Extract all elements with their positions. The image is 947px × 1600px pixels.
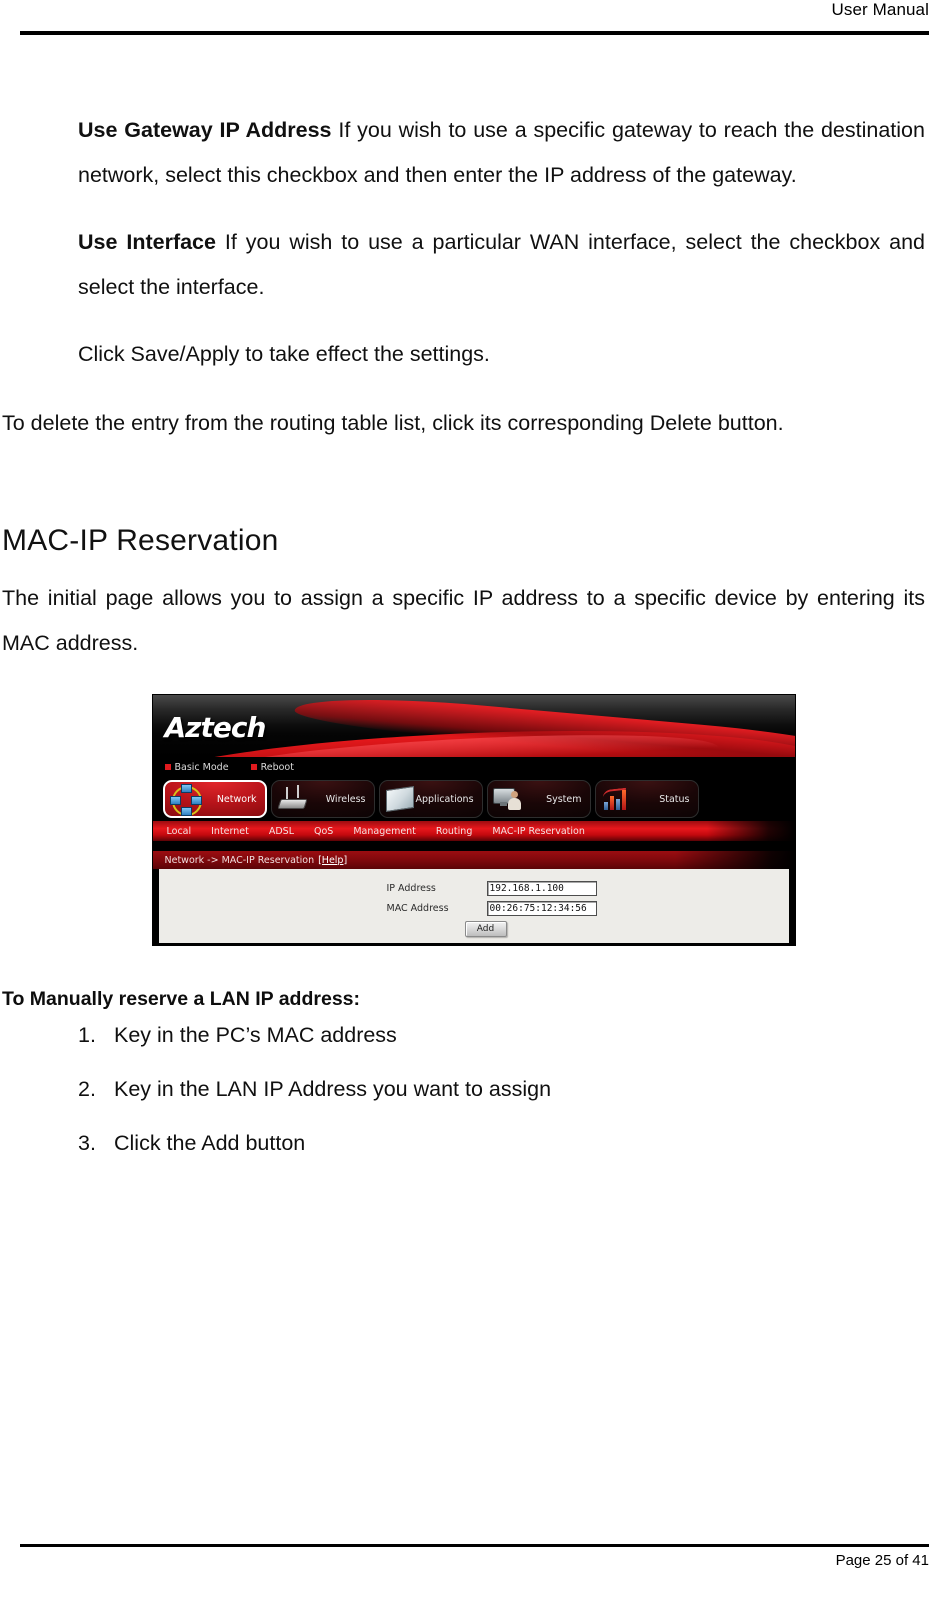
status-bar-chart-icon — [600, 784, 632, 814]
tab-applications-label: Applications — [416, 794, 474, 805]
tab-wireless-label: Wireless — [326, 794, 366, 805]
mac-address-input[interactable]: 00:26:75:12:34:56 — [487, 901, 597, 916]
applications-card-icon — [384, 784, 416, 814]
list-item: Click the Add button — [78, 1129, 947, 1157]
tab-status[interactable]: Status — [595, 780, 699, 818]
ip-address-input[interactable]: 192.168.1.100 — [487, 881, 597, 896]
breadcrumb-path: Network -> MAC-IP Reservation — [165, 855, 315, 866]
banner-wave-highlight — [204, 726, 718, 757]
utility-link-reboot[interactable]: Reboot — [251, 762, 294, 773]
section-heading-mac-ip-reservation: MAC-IP Reservation — [2, 524, 947, 558]
system-monitor-person-icon — [492, 784, 524, 814]
document-header: User Manual — [20, 0, 929, 38]
page-number: Page 25 of 41 — [836, 1552, 929, 1569]
tab-status-label: Status — [659, 794, 689, 805]
utility-link-basic-mode[interactable]: Basic Mode — [165, 762, 229, 773]
utility-link-basic-mode-label: Basic Mode — [175, 762, 229, 773]
router-web-ui: Aztech Basic Mode Reboot — [152, 694, 796, 946]
paragraph-use-gateway-ip-address: Use Gateway IP Address If you wish to us… — [78, 108, 925, 198]
footer-rule — [20, 1544, 929, 1547]
utility-link-reboot-label: Reboot — [261, 762, 294, 773]
tab-system[interactable]: System — [487, 780, 591, 818]
tab-system-label: System — [546, 794, 581, 805]
mac-ip-reservation-form: IP Address 192.168.1.100 MAC Address 00:… — [153, 869, 795, 946]
paragraph-delete-entry: To delete the entry from the routing tab… — [2, 401, 925, 446]
subnav-item-routing[interactable]: Routing — [426, 826, 482, 837]
main-tab-bar: Network Wireless A — [153, 777, 795, 821]
paragraph-use-interface: Use Interface If you wish to use a parti… — [78, 220, 925, 310]
tab-applications[interactable]: Applications — [379, 780, 483, 818]
mac-address-row: MAC Address 00:26:75:12:34:56 — [387, 901, 597, 916]
subnav-item-mac-ip-reservation[interactable]: MAC-IP Reservation — [482, 826, 595, 837]
aztech-logo: Aztech — [165, 711, 266, 744]
use-gateway-ip-address-term: Use Gateway IP Address — [78, 118, 332, 142]
banner-wave-shape-secondary — [293, 695, 794, 757]
subnav-item-internet[interactable]: Internet — [201, 826, 259, 837]
router-screenshot-figure: Aztech Basic Mode Reboot — [0, 694, 947, 946]
use-interface-term: Use Interface — [78, 230, 216, 254]
ip-address-row: IP Address 192.168.1.100 — [387, 881, 597, 896]
nav-panel-divider — [153, 841, 795, 851]
steps-heading: To Manually reserve a LAN IP address: — [2, 988, 947, 1011]
tab-network-label: Network — [217, 794, 257, 805]
brand-banner: Aztech — [153, 695, 795, 757]
network-computers-icon — [169, 784, 201, 814]
subnav-item-adsl[interactable]: ADSL — [259, 826, 304, 837]
paragraph-save-apply: Click Save/Apply to take effect the sett… — [78, 332, 925, 377]
breadcrumb-bar: Network -> MAC-IP Reservation [Help] — [153, 851, 795, 869]
header-title: User Manual — [832, 0, 929, 20]
help-link[interactable]: [Help] — [318, 855, 347, 866]
list-item: Key in the PC’s MAC address — [78, 1021, 947, 1049]
section-intro-text: The initial page allows you to assign a … — [2, 576, 925, 666]
tab-network[interactable]: Network — [163, 780, 267, 818]
wireless-router-icon — [276, 784, 308, 814]
utility-links-row: Basic Mode Reboot — [153, 757, 795, 777]
list-item: Key in the LAN IP Address you want to as… — [78, 1075, 947, 1103]
add-button[interactable]: Add — [465, 921, 507, 937]
subnav-item-qos[interactable]: QoS — [304, 826, 343, 837]
sub-navigation-bar: Local Internet ADSL QoS Management Routi… — [153, 821, 795, 841]
manual-page: User Manual Use Gateway IP Address If yo… — [0, 0, 947, 1600]
subnav-item-local[interactable]: Local — [153, 826, 202, 837]
document-footer: Page 25 of 41 — [20, 1544, 929, 1586]
mac-address-label: MAC Address — [387, 903, 487, 914]
steps-list: Key in the PC’s MAC address Key in the L… — [0, 1021, 947, 1157]
square-bullet-icon — [251, 764, 257, 770]
header-rule — [20, 31, 929, 35]
subnav-item-management[interactable]: Management — [343, 826, 426, 837]
ip-address-label: IP Address — [387, 883, 487, 894]
page-content: Use Gateway IP Address If you wish to us… — [0, 44, 947, 1183]
square-bullet-icon — [165, 764, 171, 770]
tab-wireless[interactable]: Wireless — [271, 780, 375, 818]
